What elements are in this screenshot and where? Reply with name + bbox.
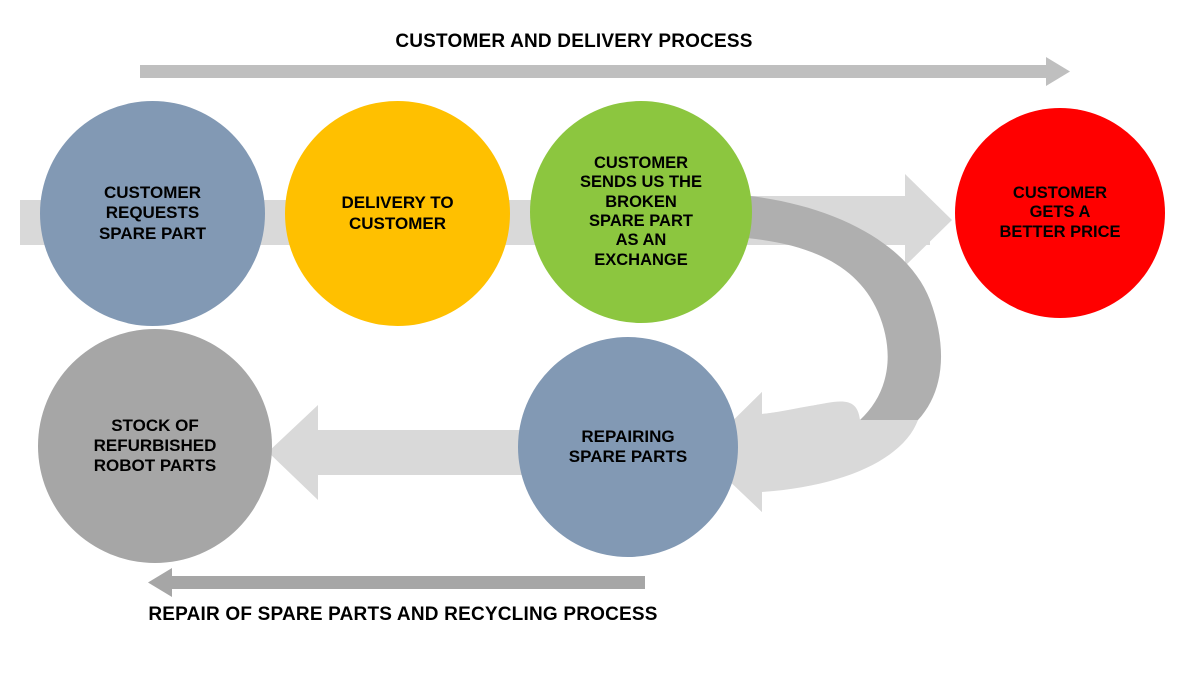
bottom-process-title: REPAIR OF SPARE PARTS AND RECYCLING PROC… (0, 604, 806, 626)
top-process-title: CUSTOMER AND DELIVERY PROCESS (0, 31, 1148, 53)
node-label: STOCK OF REFURBISHED ROBOT PARTS (84, 416, 227, 476)
node-customer-sends-broken-part[interactable]: CUSTOMER SENDS US THE BROKEN SPARE PART … (530, 101, 752, 323)
top-process-arrow (140, 57, 1070, 86)
bottom-process-arrow (148, 568, 645, 597)
node-label: DELIVERY TO CUSTOMER (331, 193, 463, 233)
node-stock-of-refurbished-robot-parts[interactable]: STOCK OF REFURBISHED ROBOT PARTS (38, 329, 272, 563)
node-delivery-to-customer[interactable]: DELIVERY TO CUSTOMER (285, 101, 510, 326)
node-label: REPAIRING SPARE PARTS (559, 427, 697, 467)
node-label: CUSTOMER GETS A BETTER PRICE (989, 184, 1130, 242)
node-customer-gets-better-price[interactable]: CUSTOMER GETS A BETTER PRICE (955, 108, 1165, 318)
node-repairing-spare-parts[interactable]: REPAIRING SPARE PARTS (518, 337, 738, 557)
node-customer-requests-spare-part[interactable]: CUSTOMER REQUESTS SPARE PART (40, 101, 265, 326)
diagram-canvas: CUSTOMER AND DELIVERY PROCESS CUSTOMER R… (0, 0, 1200, 674)
node-label: CUSTOMER REQUESTS SPARE PART (89, 183, 216, 243)
node-label: CUSTOMER SENDS US THE BROKEN SPARE PART … (570, 154, 712, 271)
